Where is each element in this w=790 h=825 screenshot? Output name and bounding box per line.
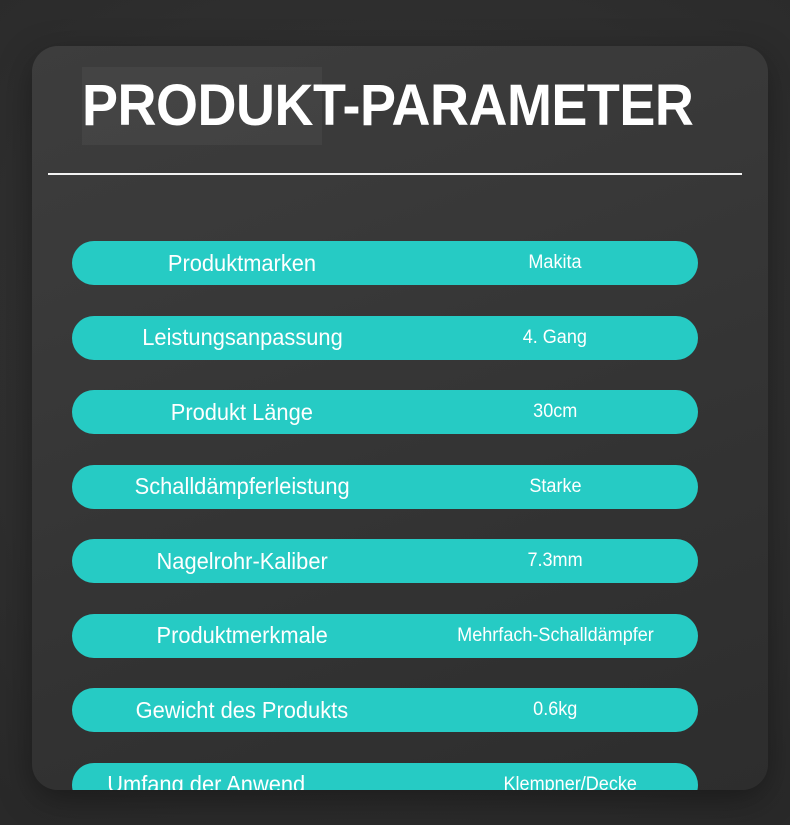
spec-value: Starke [529,476,581,498]
title-divider [48,173,742,175]
spec-value: Klempner/Decke [503,774,636,791]
spec-value: 7.3mm [527,550,582,572]
spec-value-cell: Klempner/Decke [442,763,698,791]
spec-value: Mehrfach-Schalldämpfer [457,625,654,647]
spec-list: ProduktmarkenMakitaLeistungsanpassung4. … [32,195,768,790]
product-parameter-card: PRODUKT-PARAMETER ProduktmarkenMakitaLei… [32,46,768,790]
spec-value-cell: 30cm [412,390,698,434]
spec-value: 30cm [533,401,577,423]
spec-label-cell: Schalldämpferleistung [72,465,412,509]
spec-value-cell: 4. Gang [412,316,698,360]
spec-label: Gewicht des Produkts [136,697,349,724]
spec-row[interactable]: Umfang der AnwendKlempner/Decke [72,763,698,791]
page-title: PRODUKT-PARAMETER [82,60,677,152]
spec-value-cell: 0.6kg [412,688,698,732]
spec-value: 4. Gang [523,327,587,349]
spec-label-cell: Nagelrohr-Kaliber [72,539,412,583]
spec-label: Nagelrohr-Kaliber [156,548,327,575]
spec-label-cell: Leistungsanpassung [72,316,412,360]
spec-row[interactable]: ProduktmerkmaleMehrfach-Schalldämpfer [72,614,698,658]
spec-value: 0.6kg [533,699,577,721]
spec-value-cell: Starke [412,465,698,509]
spec-label: Leistungsanpassung [142,324,342,351]
spec-row[interactable]: Nagelrohr-Kaliber7.3mm [72,539,698,583]
spec-value: Makita [528,252,581,274]
spec-row[interactable]: Produkt Länge30cm [72,390,698,434]
spec-row[interactable]: Leistungsanpassung4. Gang [72,316,698,360]
spec-value-cell: Mehrfach-Schalldämpfer [412,614,698,658]
spec-label-cell: Gewicht des Produkts [72,688,412,732]
spec-label: Produktmerkmale [156,622,327,649]
spec-row[interactable]: ProduktmarkenMakita [72,241,698,285]
spec-label: Produkt Länge [171,399,313,426]
spec-label-cell: Umfang der Anwend [72,763,442,791]
spec-row[interactable]: Gewicht des Produkts0.6kg [72,688,698,732]
spec-label-cell: Produktmerkmale [72,614,412,658]
spec-value-cell: 7.3mm [412,539,698,583]
spec-label: Produktmarken [168,250,316,277]
spec-label-cell: Produktmarken [72,241,412,285]
spec-label: Schalldämpferleistung [135,473,350,500]
spec-value-cell: Makita [412,241,698,285]
spec-label: Umfang der Anwend [107,771,305,790]
spec-row[interactable]: SchalldämpferleistungStarke [72,465,698,509]
spec-label-cell: Produkt Länge [72,390,412,434]
